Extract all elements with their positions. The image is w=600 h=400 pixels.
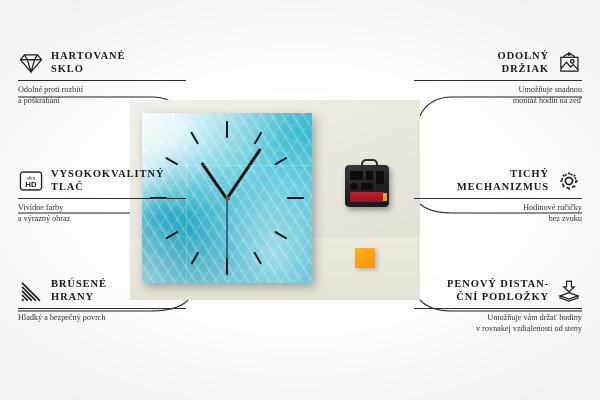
foam-pad-arrow-icon: [556, 279, 582, 303]
feature-holder: ODOLNÝ DRŽIAK Umožňuje snadnou montáž ho…: [414, 50, 582, 106]
minute-hand: [226, 148, 262, 199]
tick-2: [274, 157, 287, 165]
feature-holder-desc-2: montáž hodin na zeď: [414, 96, 582, 107]
feature-edges-title: BRÚSENÉ HRANY: [51, 278, 107, 304]
diamond-icon: [18, 51, 44, 75]
feature-glass-title: HARTOVANÉ SKLO: [51, 50, 125, 76]
tick-3: [287, 197, 304, 199]
feature-mechanism-desc-2: bez zvuku: [414, 214, 582, 225]
tick-12: [226, 121, 228, 138]
battery-cap: [383, 193, 387, 201]
feature-holder-title: ODOLNÝ DRŽIAK: [498, 50, 550, 76]
foam-pad: [355, 248, 375, 268]
feature-foam-title: PENOVÝ DISTAN- ČNÍ PODLOŽKY: [447, 278, 549, 304]
tick-4: [274, 231, 287, 239]
feature-print: ultra HD VYSOKOKVALITNÝ TLAČ Vivídne far…: [18, 168, 186, 224]
feature-mechanism-rule: [414, 198, 582, 199]
tick-10: [165, 157, 178, 165]
feature-print-title: VYSOKOKVALITNÝ TLAČ: [51, 168, 164, 194]
tick-1: [254, 132, 262, 145]
feature-edges-head: BRÚSENÉ HRANY: [18, 278, 186, 304]
feature-foam-desc-1: Umožňuje vám držať hodiny: [414, 313, 582, 324]
feature-holder-head: ODOLNÝ DRŽIAK: [414, 50, 582, 76]
feature-mechanism-head: TICHÝ MECHANIZMUS: [414, 168, 582, 194]
clock-mechanism: [345, 165, 389, 207]
feature-holder-desc-1: Umožňuje snadnou: [414, 85, 582, 96]
tick-8: [165, 231, 178, 239]
mechanism-hook: [361, 159, 378, 169]
feature-glass-desc-1: Odolné proti rozbití: [18, 85, 186, 96]
feature-glass-rule: [18, 80, 186, 81]
feature-holder-rule: [414, 80, 582, 81]
beveled-edges-icon: [18, 279, 44, 303]
tick-6: [226, 258, 228, 275]
feature-print-desc-2: a výrazný obraz: [18, 214, 186, 225]
feature-mechanism-title: TICHÝ MECHANIZMUS: [457, 168, 549, 194]
feature-edges: BRÚSENÉ HRANY Hladký a bezpečný povrch: [18, 278, 186, 324]
mechanism-battery: [350, 192, 384, 202]
feature-mechanism: TICHÝ MECHANIZMUS Hodinové ručičky bez z…: [414, 168, 582, 224]
feature-glass-head: HARTOVANÉ SKLO: [18, 50, 186, 76]
tick-5: [254, 252, 262, 265]
tick-11: [191, 132, 199, 145]
second-hand: [226, 198, 227, 264]
feature-print-rule: [18, 198, 186, 199]
hour-hand: [200, 162, 228, 200]
feature-glass: HARTOVANÉ SKLO Odolné proti rozbití a po…: [18, 50, 186, 106]
clock-pivot: [225, 196, 230, 201]
feature-glass-desc-2: a poškrábání: [18, 96, 186, 107]
feature-edges-rule: [18, 308, 186, 309]
svg-text:HD: HD: [25, 180, 37, 189]
feature-foam: PENOVÝ DISTAN- ČNÍ PODLOŽKY Umožňuje vám…: [414, 278, 582, 334]
feature-foam-rule: [414, 308, 582, 309]
infographic-stage: HARTOVANÉ SKLO Odolné proti rozbití a po…: [0, 0, 600, 400]
feature-foam-desc-2: v rovnakej vzdialenosti od steny: [414, 324, 582, 335]
feature-print-head: ultra HD VYSOKOKVALITNÝ TLAČ: [18, 168, 186, 194]
feature-edges-desc-1: Hladký a bezpečný povrch: [18, 313, 186, 324]
ultra-hd-icon: ultra HD: [18, 169, 44, 193]
feature-foam-head: PENOVÝ DISTAN- ČNÍ PODLOŽKY: [414, 278, 582, 304]
feature-mechanism-desc-1: Hodinové ručičky: [414, 203, 582, 214]
gear-icon: [556, 169, 582, 193]
feature-print-desc-1: Vivídne farby: [18, 203, 186, 214]
tick-7: [191, 252, 199, 265]
picture-hanger-icon: [556, 51, 582, 75]
